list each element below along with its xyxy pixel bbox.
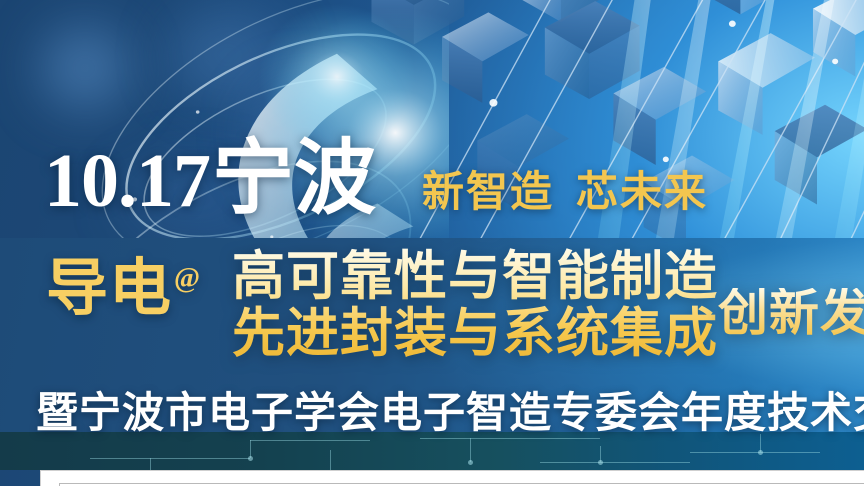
brand-name: 导电@ [46, 258, 201, 320]
cube-pattern-graphic [311, 0, 864, 272]
tagline-left: 新智造 [422, 170, 554, 216]
date-and-city: 10.17宁波 [44, 138, 376, 220]
headline-line-2: 先进封装与系统集成 [232, 305, 718, 362]
bottom-circuit-strip [0, 432, 864, 470]
main-headline: 高可靠性与智能制造 先进封装与系统集成 [232, 248, 718, 362]
subtitle-line: 暨宁波市电子学会电子智造专委会年度技术交 [36, 392, 864, 434]
event-city: 宁波 [212, 133, 376, 224]
at-symbol: @ [174, 263, 201, 294]
headline-line-1: 高可靠性与智能制造 [232, 248, 718, 305]
poster-banner: 10.17宁波 新智造芯未来 导电@ 高可靠性与智能制造 先进封装与系统集成 创… [0, 0, 864, 486]
right-phrase: 创新发 [718, 288, 864, 338]
brand-label: 导电 [46, 254, 172, 323]
event-date: 10.17 [44, 139, 210, 223]
tagline-right: 芯未来 [576, 170, 708, 216]
tagline: 新智造芯未来 [422, 172, 708, 214]
bottom-white-panel [40, 470, 864, 486]
